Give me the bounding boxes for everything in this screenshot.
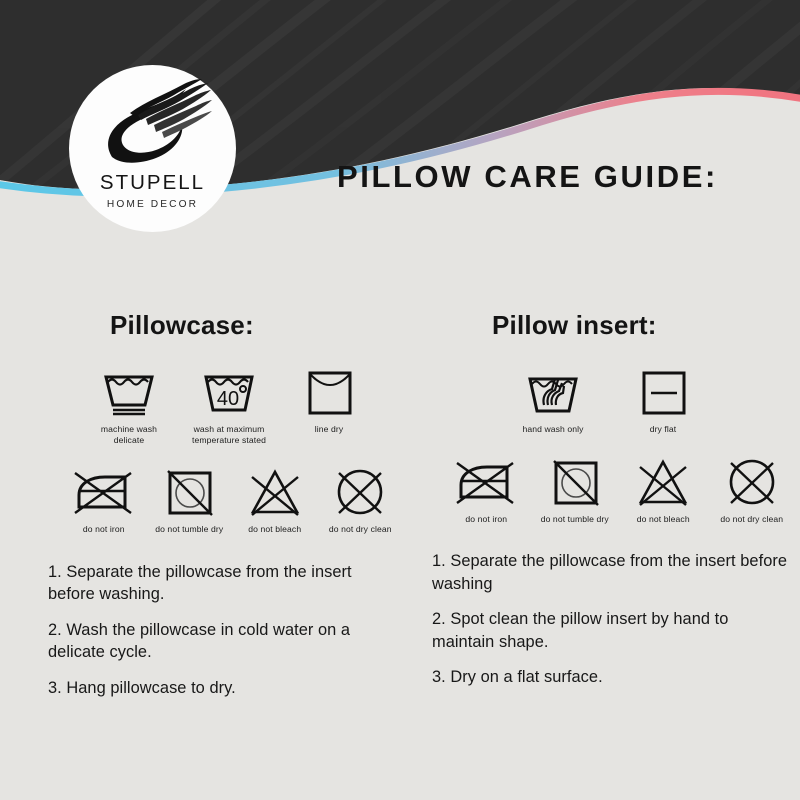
- symbol-do-not-bleach: do not bleach: [237, 467, 313, 535]
- symbol-do-not-dry-clean: do not dry clean: [714, 457, 791, 525]
- symbol-caption: do not iron: [83, 524, 125, 535]
- brand-logo: STUPELL HOME DECOR: [69, 65, 236, 232]
- do-not-tumble-dry-icon: [544, 457, 606, 507]
- symbol-line-dry: line dry: [290, 367, 368, 435]
- symbol-caption: do not bleach: [248, 524, 301, 535]
- symbol-hand-wash-only: hand wash only: [514, 367, 592, 435]
- pillow-care-guide-page: STUPELL HOME DECOR PILLOW CARE GUIDE: Pi…: [0, 0, 800, 800]
- symbol-dry-flat: dry flat: [624, 367, 702, 435]
- do-not-iron-icon: [69, 467, 139, 517]
- symbol-caption: line dry: [315, 424, 344, 435]
- dry-flat-icon: [632, 367, 694, 417]
- instruction-step: 2. Spot clean the pillow insert by hand …: [432, 608, 790, 653]
- symbol-caption: do not dry clean: [720, 514, 783, 525]
- symbol-do-not-iron: do not iron: [448, 457, 525, 525]
- instruction-step: 1. Separate the pillowcase from the inse…: [432, 550, 790, 595]
- pillowcase-instructions: 1. Separate the pillowcase from the inse…: [38, 561, 398, 700]
- symbol-do-not-dry-clean: do not dry clean: [323, 467, 399, 535]
- do-not-iron-icon: [451, 457, 521, 507]
- symbol-wash-40-degrees: 40 wash at maximum temperature stated: [190, 367, 268, 445]
- do-not-bleach-icon: [632, 457, 694, 507]
- do-not-tumble-dry-icon: [158, 467, 220, 517]
- section-pillowcase: Pillowcase: machine wash delicate: [38, 310, 398, 712]
- pillowcase-symbol-row-2: do not iron do not tumble dry: [38, 467, 398, 535]
- instruction-step: 2. Wash the pillowcase in cold water on …: [48, 619, 398, 664]
- symbol-do-not-iron: do not iron: [66, 467, 142, 535]
- symbol-do-not-tumble-dry: do not tumble dry: [537, 457, 614, 525]
- symbol-caption: hand wash only: [522, 424, 583, 435]
- section-pillow-insert: Pillow insert: hand w: [430, 310, 790, 702]
- brand-tagline: HOME DECOR: [107, 199, 198, 210]
- pillowcase-symbol-grid: machine wash delicate 40 wash at maximum…: [38, 367, 398, 535]
- machine-wash-delicate-icon: [98, 367, 160, 417]
- instruction-step: 1. Separate the pillowcase from the inse…: [48, 561, 398, 606]
- section-heading-pillowcase: Pillowcase:: [38, 310, 398, 341]
- brand-name: STUPELL: [100, 171, 205, 195]
- line-dry-icon: [298, 367, 360, 417]
- hand-wash-only-icon: [522, 367, 584, 417]
- instruction-step: 3. Hang pillowcase to dry.: [48, 677, 398, 700]
- symbol-caption: wash at maximum temperature stated: [192, 424, 266, 445]
- instruction-step: 3. Dry on a flat surface.: [432, 666, 790, 689]
- page-title: PILLOW CARE GUIDE:: [337, 159, 718, 195]
- symbol-caption: do not iron: [465, 514, 507, 525]
- symbol-caption: do not tumble dry: [541, 514, 609, 525]
- wash-40-degrees-icon: 40: [198, 367, 260, 417]
- do-not-dry-clean-icon: [329, 467, 391, 517]
- do-not-dry-clean-icon: [721, 457, 783, 507]
- symbol-caption: machine wash delicate: [101, 424, 157, 445]
- symbol-do-not-bleach: do not bleach: [625, 457, 702, 525]
- pillow-insert-symbol-row-2: do not iron do not tumble dry: [430, 457, 790, 525]
- pillow-insert-instructions: 1. Separate the pillowcase from the inse…: [430, 550, 790, 689]
- pillowcase-symbol-row-1: machine wash delicate 40 wash at maximum…: [38, 367, 398, 445]
- symbol-caption: do not tumble dry: [155, 524, 223, 535]
- pillow-insert-symbol-row-1: hand wash only dry flat: [430, 367, 790, 435]
- symbol-caption: do not bleach: [637, 514, 690, 525]
- section-heading-pillow-insert: Pillow insert:: [430, 310, 790, 341]
- stupell-swoosh-logo-icon: [94, 79, 212, 165]
- do-not-bleach-icon: [244, 467, 306, 517]
- symbol-caption: do not dry clean: [329, 524, 392, 535]
- symbol-caption: dry flat: [650, 424, 677, 435]
- symbol-machine-wash-delicate: machine wash delicate: [90, 367, 168, 445]
- symbol-do-not-tumble-dry: do not tumble dry: [152, 467, 228, 535]
- pillow-insert-symbol-grid: hand wash only dry flat: [430, 367, 790, 524]
- svg-text:40: 40: [217, 388, 239, 410]
